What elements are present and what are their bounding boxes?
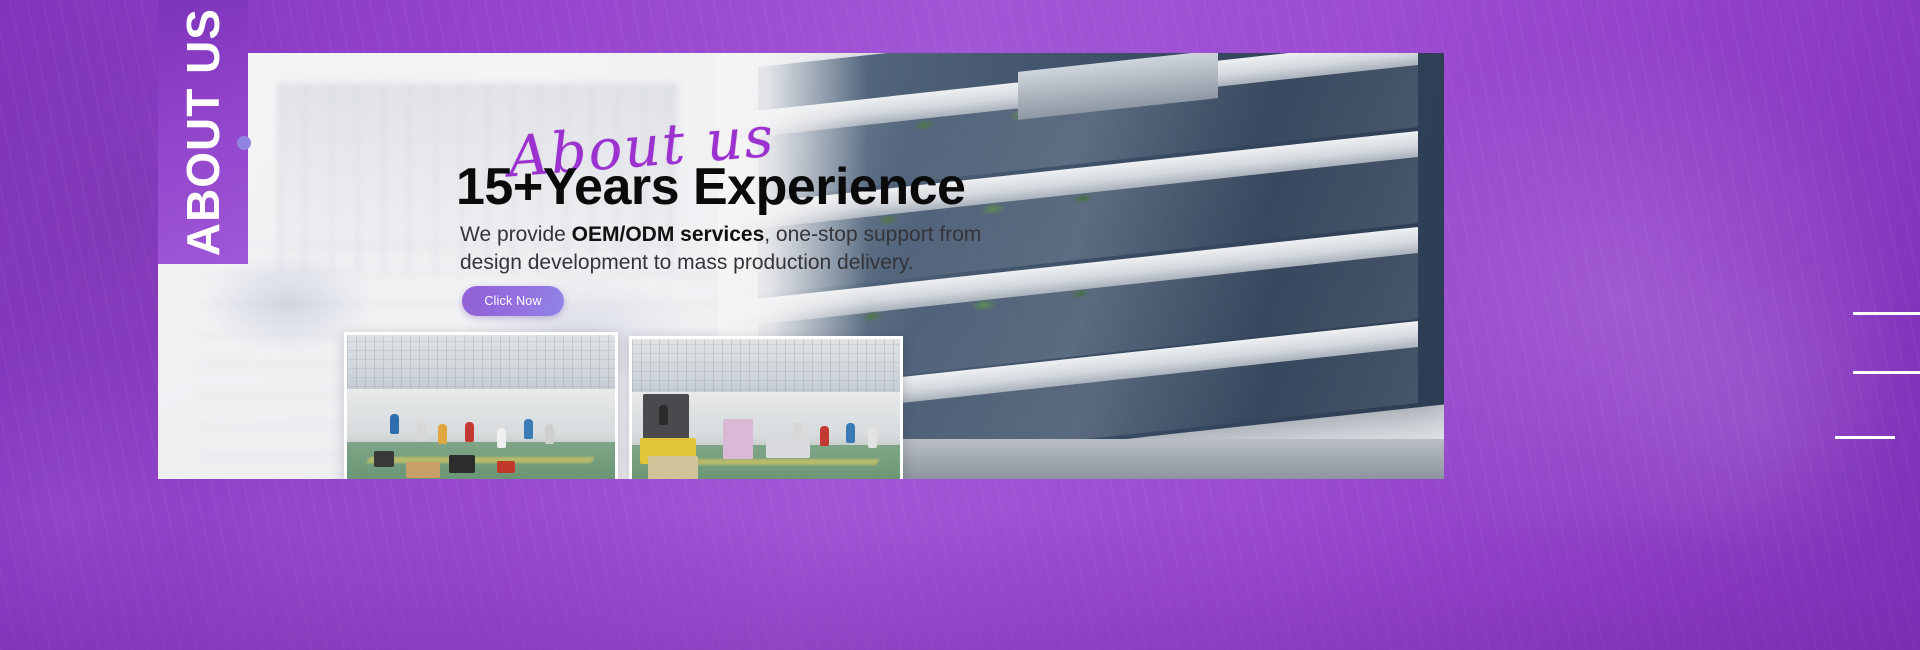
thumb-equipment xyxy=(632,409,900,479)
about-content-card: About us 15+Years Experience We provide … xyxy=(158,53,1444,479)
thumbnail-factory-production-machines[interactable] xyxy=(629,336,903,479)
thumb-ceiling xyxy=(347,335,615,396)
about-us-side-tab[interactable]: ABOUT US xyxy=(158,0,248,264)
paragraph-bold-term: OEM/ODM services xyxy=(572,223,765,246)
decorative-line xyxy=(1853,371,1920,374)
thumb-ceiling xyxy=(632,339,900,399)
about-us-side-tab-label: ABOUT US xyxy=(180,8,226,256)
paragraph-lead: We provide xyxy=(460,223,572,246)
click-now-button[interactable]: Click Now xyxy=(462,286,564,316)
bottom-gradient-band xyxy=(0,510,1920,650)
accent-dot-icon xyxy=(237,136,251,150)
thumbnail-factory-assembly-line[interactable] xyxy=(344,332,618,479)
about-paragraph: We provide OEM/ODM services, one-stop su… xyxy=(460,221,1000,276)
decorative-line xyxy=(1835,436,1895,439)
thumb-workers xyxy=(347,407,615,479)
decorative-line xyxy=(1853,312,1920,315)
page-title: 15+Years Experience xyxy=(456,161,965,213)
